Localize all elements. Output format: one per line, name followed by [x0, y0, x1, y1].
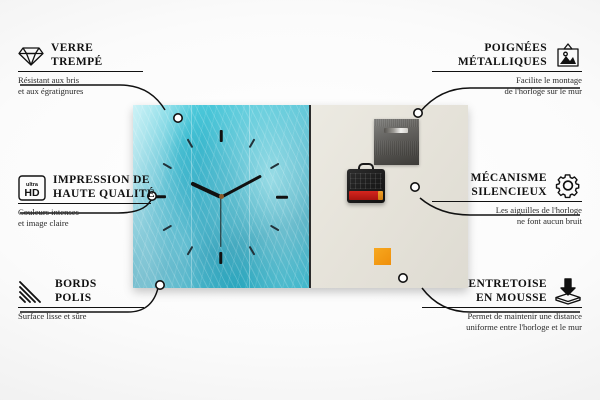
callout-title-line2: EN MOUSSE — [468, 292, 547, 306]
callout-poignees-metalliques: POIGNÉES MÉTALLIQUES Facilite le montage… — [432, 42, 582, 96]
clock-center-cap — [219, 194, 224, 199]
product-photo — [133, 105, 468, 288]
callout-entretoise-en-mousse: ENTRETOISE EN MOUSSE Permet de maintenir… — [422, 278, 582, 332]
callout-title-line2: HAUTE QUALITÉ — [53, 188, 155, 202]
metal-hanger-plate — [374, 119, 419, 165]
callout-title-line2: TREMPÉ — [51, 56, 103, 70]
foam-spacer — [374, 248, 391, 265]
callout-desc-line1: Permet de maintenir une distance — [422, 311, 582, 322]
callout-title-line2: MÉTALLIQUES — [458, 56, 547, 70]
callout-title-line1: MÉCANISME — [471, 172, 547, 186]
infographic-canvas: VERRE TREMPÉ Résistant aux bris et aux é… — [0, 0, 600, 400]
callout-desc-line2: et aux égratignures — [18, 86, 158, 97]
callout-desc-line1: Résistant aux bris — [18, 75, 158, 86]
callout-desc-line2: de l'horloge sur le mur — [432, 86, 582, 97]
callout-desc-line1: Couleurs intenses — [18, 207, 168, 218]
callout-rule — [432, 71, 582, 72]
battery — [349, 191, 380, 200]
callout-desc-line2: et image claire — [18, 218, 168, 229]
callout-desc-line2: ne font aucun bruit — [432, 216, 582, 227]
diamond-icon — [18, 45, 44, 67]
callout-desc-line2: uniforme entre l'horloge et le mur — [422, 322, 582, 333]
callout-rule — [422, 307, 582, 308]
battery-terminal — [378, 191, 383, 200]
callout-rule — [432, 201, 582, 202]
callout-title-line1: POIGNÉES — [458, 42, 547, 56]
callout-title-line2: POLIS — [55, 292, 97, 306]
callout-title-line1: VERRE — [51, 42, 103, 56]
callout-desc-line1: Surface lisse et sûre — [18, 311, 158, 322]
callout-mecanisme-silencieux: MÉCANISME SILENCIEUX Les aiguilles de l'… — [432, 172, 582, 226]
gear-icon — [554, 172, 582, 199]
callout-title-line1: ENTRETOISE — [468, 278, 547, 292]
picture-frame-hanger-icon — [554, 43, 582, 69]
callout-bords-polis: BORDS POLIS Surface lisse et sûre — [18, 278, 158, 322]
ultra-hd-badge-icon: ultra HD — [18, 175, 46, 201]
ultra-hd-large-text: HD — [24, 187, 40, 199]
mechanism-body — [347, 169, 385, 203]
callout-rule — [18, 203, 151, 204]
callout-impression-haute-qualite: ultra HD IMPRESSION DE HAUTE QUALITÉ Cou… — [18, 174, 168, 228]
clock-tick — [220, 130, 223, 142]
hanger-slot — [384, 128, 408, 133]
callout-title-line1: BORDS — [55, 278, 97, 292]
callout-title-line1: IMPRESSION DE — [53, 174, 155, 188]
quartz-mechanism — [347, 163, 385, 203]
callout-desc-line1: Facilite le montage — [432, 75, 582, 86]
clock-tick — [276, 195, 288, 198]
callout-rule — [18, 71, 143, 72]
callout-title-line2: SILENCIEUX — [471, 186, 547, 200]
callout-desc-line1: Les aiguilles de l'horloge — [432, 205, 582, 216]
callout-rule — [18, 307, 144, 308]
foam-spacer-arrow-icon — [554, 278, 582, 305]
mechanism-vents — [350, 173, 382, 189]
polished-edge-icon — [18, 280, 48, 304]
clock-tick — [220, 252, 223, 264]
callout-verre-trempe: VERRE TREMPÉ Résistant aux bris et aux é… — [18, 42, 158, 96]
